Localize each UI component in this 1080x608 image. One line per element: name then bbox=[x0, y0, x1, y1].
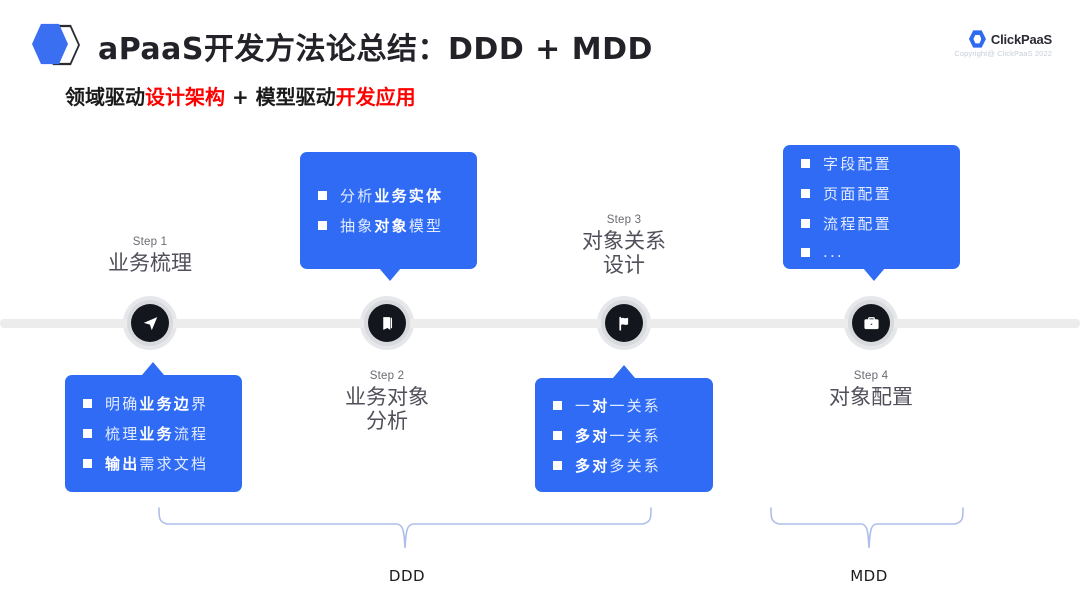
bullet-item: 明确业务边界 bbox=[83, 393, 224, 414]
bullet-square-icon bbox=[318, 191, 327, 200]
bullet-item: 抽象对象模型 bbox=[318, 215, 459, 236]
callout-tail-3 bbox=[613, 365, 635, 378]
subtitle-part-2: 设计架构 bbox=[145, 85, 225, 109]
step-number-1: Step 1 bbox=[60, 236, 240, 248]
bullet-square-icon bbox=[83, 399, 92, 408]
callout-step-4: 字段配置 页面配置 流程配置 ... bbox=[783, 145, 960, 269]
timeline-node-1[interactable] bbox=[127, 300, 173, 346]
bullet-square-icon bbox=[83, 459, 92, 468]
subtitle-part-1: 领域驱动 bbox=[65, 85, 145, 109]
step-caption-3: Step 3 对象关系 设计 bbox=[534, 214, 714, 278]
brand-name: ClickPaaS bbox=[991, 32, 1052, 47]
brand-copyright: Copyright@ ClickPaaS 2022 bbox=[954, 49, 1052, 58]
bullet-item: 分析业务实体 bbox=[318, 185, 459, 206]
hexagon-logo-icon bbox=[30, 22, 82, 68]
bullet-square-icon bbox=[318, 221, 327, 230]
bullet-item: 梳理业务流程 bbox=[83, 423, 224, 444]
step-number-4: Step 4 bbox=[781, 370, 961, 382]
clickpaas-hexagon-icon bbox=[969, 30, 986, 48]
timeline-node-3[interactable] bbox=[601, 300, 647, 346]
group-label-ddd: DDD bbox=[337, 567, 477, 585]
brand-badge: ClickPaaS Copyright@ ClickPaaS 2022 bbox=[954, 30, 1052, 58]
bullet-square-icon bbox=[801, 189, 810, 198]
step-number-3: Step 3 bbox=[534, 214, 714, 226]
flag-icon bbox=[605, 304, 643, 342]
callout-tail-2 bbox=[379, 268, 401, 281]
callout-step-1: 明确业务边界 梳理业务流程 输出需求文档 bbox=[65, 375, 242, 492]
step-name-3: 对象关系 设计 bbox=[534, 230, 714, 278]
step-name-1: 业务梳理 bbox=[60, 252, 240, 276]
bullet-item: 多对多关系 bbox=[553, 455, 695, 476]
step-caption-1: Step 1 业务梳理 bbox=[60, 236, 240, 276]
step-number-2: Step 2 bbox=[297, 370, 477, 382]
subtitle-part-4: 开发应用 bbox=[336, 85, 416, 109]
bullet-square-icon bbox=[801, 159, 810, 168]
book-icon bbox=[368, 304, 406, 342]
bullet-square-icon bbox=[553, 431, 562, 440]
timeline-node-4[interactable] bbox=[848, 300, 894, 346]
brace-ddd bbox=[150, 506, 670, 550]
bullet-square-icon bbox=[553, 401, 562, 410]
bullet-item: 输出需求文档 bbox=[83, 453, 224, 474]
group-label-mdd: MDD bbox=[799, 567, 939, 585]
page-subtitle: 领域驱动设计架构 + 模型驱动开发应用 bbox=[65, 81, 416, 110]
bullet-item: ... bbox=[801, 243, 942, 261]
bullet-item: 页面配置 bbox=[801, 183, 942, 204]
bullet-square-icon bbox=[553, 461, 562, 470]
timeline-node-2[interactable] bbox=[364, 300, 410, 346]
bullet-item: 多对一关系 bbox=[553, 425, 695, 446]
callout-tail-1 bbox=[142, 362, 164, 375]
bullet-square-icon bbox=[801, 248, 810, 257]
callout-step-3: 一对一关系 多对一关系 多对多关系 bbox=[535, 378, 713, 492]
bullet-square-icon bbox=[801, 219, 810, 228]
step-name-4: 对象配置 bbox=[781, 386, 961, 410]
brace-mdd bbox=[762, 506, 972, 550]
page-title: aPaaS开发方法论总结：DDD + MDD bbox=[98, 24, 653, 68]
paper-plane-icon bbox=[131, 304, 169, 342]
callout-tail-4 bbox=[863, 268, 885, 281]
bullet-item: 字段配置 bbox=[801, 153, 942, 174]
bullet-item: 一对一关系 bbox=[553, 395, 695, 416]
callout-step-2: 分析业务实体 抽象对象模型 bbox=[300, 152, 477, 269]
step-name-2: 业务对象 分析 bbox=[297, 386, 477, 434]
bullet-square-icon bbox=[83, 429, 92, 438]
step-caption-2: Step 2 业务对象 分析 bbox=[297, 370, 477, 434]
subtitle-part-3: + 模型驱动 bbox=[225, 85, 336, 109]
briefcase-icon bbox=[852, 304, 890, 342]
bullet-item: 流程配置 bbox=[801, 213, 942, 234]
step-caption-4: Step 4 对象配置 bbox=[781, 370, 961, 410]
